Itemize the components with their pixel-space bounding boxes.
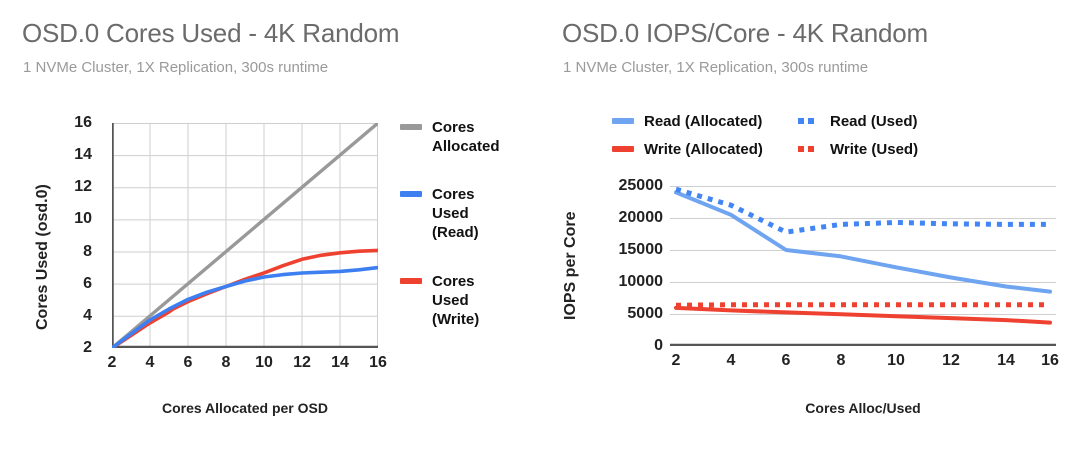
legend-label-read-used: Read (Used) xyxy=(830,112,918,131)
x-tick-right: 14 xyxy=(997,352,1015,370)
legend-item-write-allocated[interactable]: Write (Allocated) xyxy=(612,140,763,159)
y-tick-left: 4 xyxy=(56,307,92,325)
gridlines-horizontal xyxy=(112,124,378,317)
series-cores-allocated-full xyxy=(112,123,378,348)
y-tick-right: 15000 xyxy=(585,241,663,259)
x-tick-left: 8 xyxy=(222,354,231,372)
y-tick-left: 2 xyxy=(56,339,92,357)
x-tick-left: 12 xyxy=(293,354,311,372)
legend-item-write-used[interactable]: Write (Used) xyxy=(798,140,918,159)
y-tick-right: 25000 xyxy=(585,177,663,195)
x-tick-right: 10 xyxy=(887,352,905,370)
legend-swatch-write-used xyxy=(798,146,820,152)
legend-item-cores-used-write[interactable]: Cores Used (Write) xyxy=(400,272,479,329)
legend-swatch-read-used xyxy=(798,118,820,124)
y-tick-right: 5000 xyxy=(585,305,663,323)
series-cores-used-write xyxy=(112,250,378,348)
gridlines-vertical xyxy=(150,123,378,348)
y-tick-left: 16 xyxy=(56,114,92,132)
plot-area-right xyxy=(670,186,1056,346)
y-axis-title-left: Cores Used (osd.0) xyxy=(34,184,52,330)
y-tick-right: 10000 xyxy=(585,273,663,291)
x-tick-left: 6 xyxy=(184,354,193,372)
y-tick-right: 0 xyxy=(585,337,663,355)
x-tick-right: 12 xyxy=(942,352,960,370)
y-tick-left: 6 xyxy=(56,275,92,293)
x-tick-right: 2 xyxy=(672,352,681,370)
y-tick-left: 8 xyxy=(56,243,92,261)
x-tick-right: 4 xyxy=(727,352,736,370)
legend-swatch-write-allocated xyxy=(612,146,634,152)
x-tick-left: 4 xyxy=(146,354,155,372)
x-tick-left: 2 xyxy=(108,354,117,372)
y-tick-left: 12 xyxy=(56,178,92,196)
chart-panel-cores-used: OSD.0 Cores Used - 4K Random 1 NVMe Clus… xyxy=(0,0,540,449)
series-cores-used-read xyxy=(112,268,378,348)
series-write-allocated xyxy=(676,308,1050,323)
y-tick-right: 20000 xyxy=(585,209,663,227)
legend-item-cores-allocated[interactable]: Cores Allocated xyxy=(400,118,500,156)
chart-subtitle-right: 1 NVMe Cluster, 1X Replication, 300s run… xyxy=(563,59,868,76)
legend-label-cores-allocated: Cores Allocated xyxy=(432,118,500,156)
chart-panel-iops-per-core: OSD.0 IOPS/Core - 4K Random 1 NVMe Clust… xyxy=(540,0,1080,449)
legend-label-write-allocated: Write (Allocated) xyxy=(644,140,763,159)
x-axis-title-right: Cores Alloc/Used xyxy=(670,400,1056,416)
legend-label-write-used: Write (Used) xyxy=(830,140,918,159)
legend-swatch-cores-allocated xyxy=(400,124,422,130)
plot-area-left xyxy=(112,123,378,348)
series-read-used xyxy=(676,189,1050,232)
legend-item-cores-used-read[interactable]: Cores Used (Read) xyxy=(400,185,479,242)
x-axis-title-left: Cores Allocated per OSD xyxy=(112,400,378,416)
slide-canvas: OSD.0 Cores Used - 4K Random 1 NVMe Clus… xyxy=(0,0,1080,449)
legend-swatch-cores-used-read xyxy=(400,191,422,197)
chart-title-right: OSD.0 IOPS/Core - 4K Random xyxy=(562,18,928,49)
y-axis-title-right: IOPS per Core xyxy=(562,212,580,320)
legend-item-read-used[interactable]: Read (Used) xyxy=(798,112,918,131)
x-tick-left: 10 xyxy=(255,354,273,372)
legend-swatch-cores-used-write xyxy=(400,278,422,284)
legend-item-read-allocated[interactable]: Read (Allocated) xyxy=(612,112,762,131)
chart-title-left: OSD.0 Cores Used - 4K Random xyxy=(22,18,399,49)
gridlines-horizontal xyxy=(670,187,1056,315)
legend-label-cores-used-write: Cores Used (Write) xyxy=(432,272,479,329)
y-tick-left: 14 xyxy=(56,146,92,164)
series-write-used xyxy=(676,305,1050,306)
x-tick-left: 16 xyxy=(369,354,387,372)
legend-swatch-read-allocated xyxy=(612,118,634,124)
x-tick-left: 14 xyxy=(331,354,349,372)
x-tick-right: 8 xyxy=(837,352,846,370)
x-tick-right: 6 xyxy=(782,352,791,370)
y-tick-left: 10 xyxy=(56,210,92,228)
x-tick-right: 16 xyxy=(1041,352,1059,370)
legend-label-read-allocated: Read (Allocated) xyxy=(644,112,762,131)
legend-label-cores-used-read: Cores Used (Read) xyxy=(432,185,479,242)
chart-subtitle-left: 1 NVMe Cluster, 1X Replication, 300s run… xyxy=(23,59,328,76)
